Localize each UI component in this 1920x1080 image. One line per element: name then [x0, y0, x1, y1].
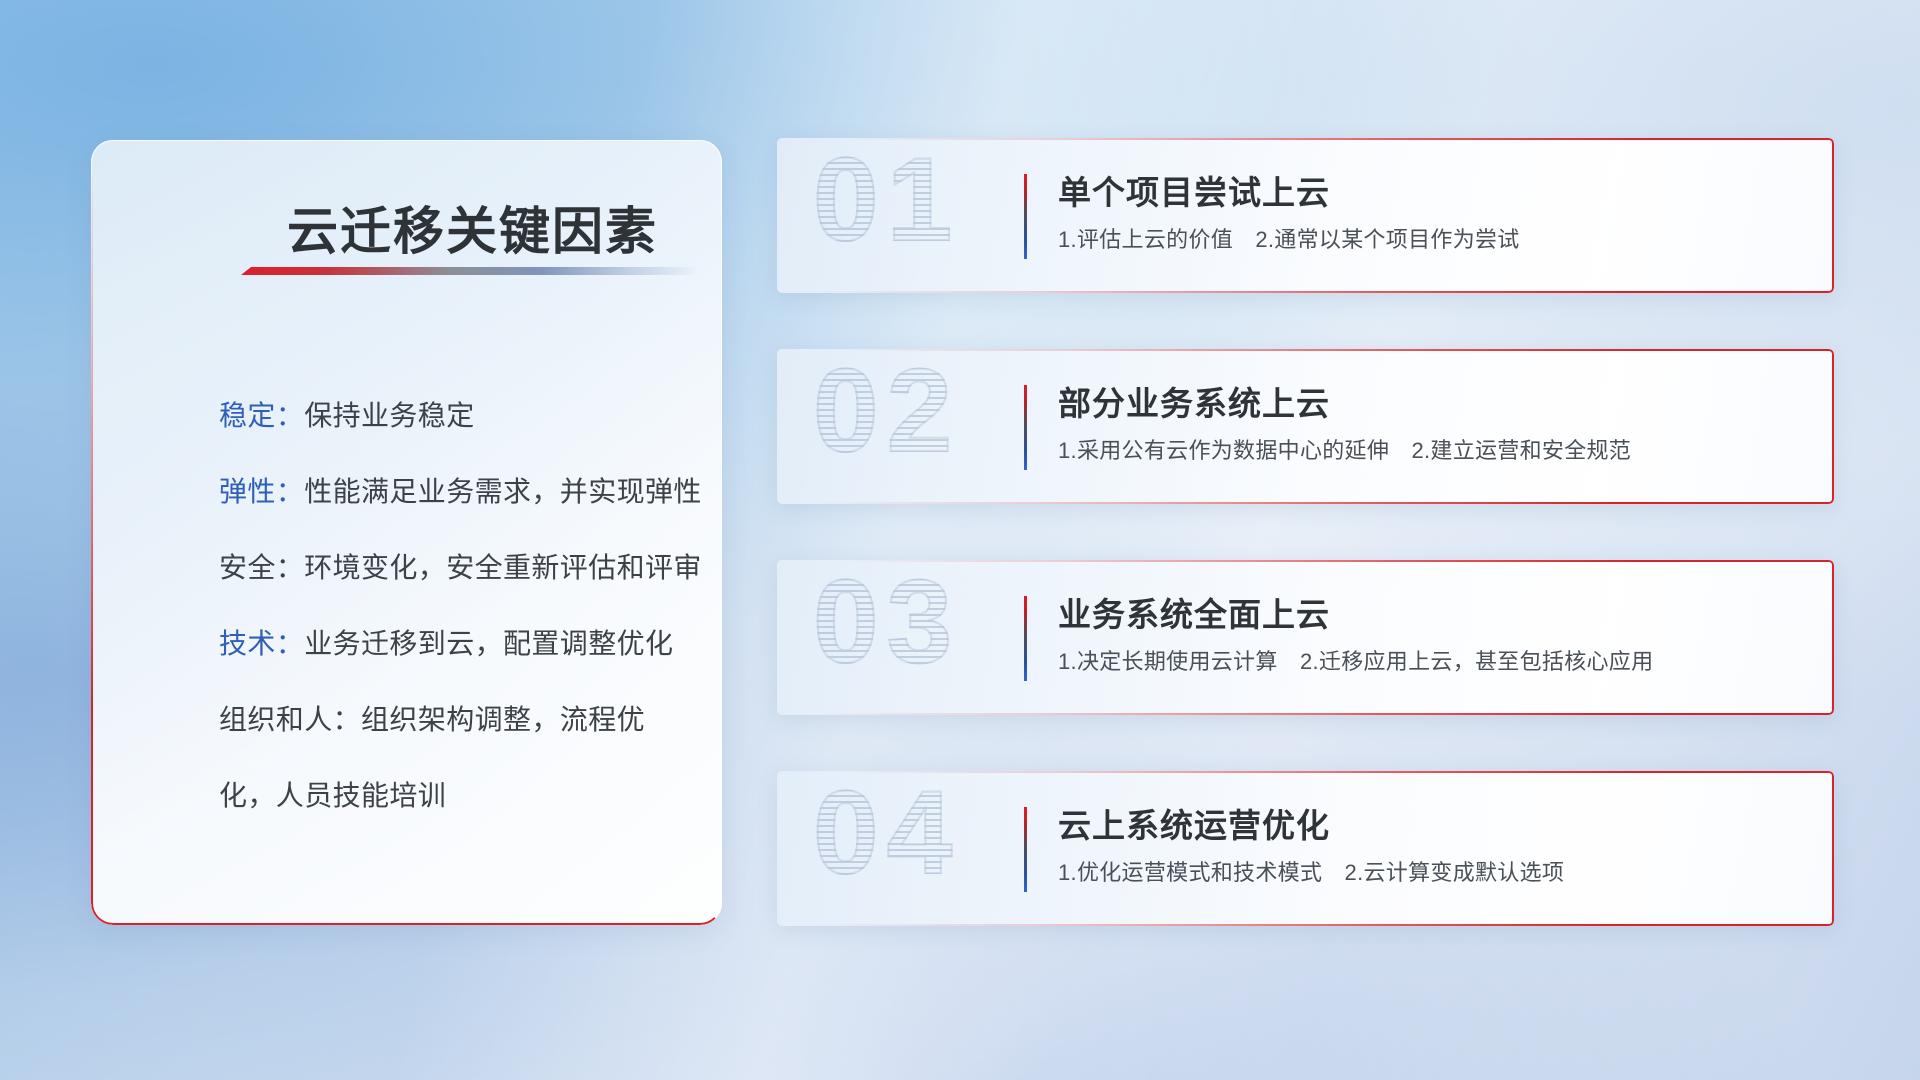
- list-item-value: 性能满足业务需求，并实现弹性: [304, 476, 702, 507]
- stage-number: 03: [813, 560, 960, 690]
- list-item: 安全：环境变化，安全重新评估和评审: [219, 530, 699, 606]
- stage-subtitle: 1.采用公有云作为数据中心的延伸 2.建立运营和安全规范: [1058, 433, 1631, 465]
- list-item-key: 弹性：: [219, 476, 304, 507]
- left-summary-panel: 云迁移关键因素 稳定：保持业务稳定 弹性：性能满足业务需求，并实现弹性 安全：环…: [91, 140, 722, 925]
- stage-number: 04: [813, 771, 960, 901]
- page-title: 云迁移关键因素: [287, 190, 658, 264]
- list-item-key: 技术：: [219, 628, 304, 659]
- stage-title: 部分业务系统上云: [1058, 377, 1330, 425]
- list-item-key: 组织和人：: [219, 704, 361, 735]
- stage-card[interactable]: 03 业务系统全面上云 1.决定长期使用云计算 2.迁移应用上云，甚至包括核心应…: [777, 560, 1834, 715]
- list-item: 稳定：保持业务稳定: [219, 378, 699, 454]
- stage-card[interactable]: 01 单个项目尝试上云 1.评估上云的价值 2.通常以某个项目作为尝试: [777, 138, 1834, 293]
- list-item-value: 环境变化，安全重新评估和评审: [304, 552, 702, 583]
- list-item: 技术：业务迁移到云，配置调整优化: [219, 606, 699, 682]
- list-item-key: 安全：: [219, 552, 304, 583]
- card-divider-bar: [1024, 385, 1027, 470]
- list-item-value: 保持业务稳定: [304, 400, 474, 431]
- slide-canvas: 云迁移关键因素 稳定：保持业务稳定 弹性：性能满足业务需求，并实现弹性 安全：环…: [0, 0, 1920, 1080]
- stage-card[interactable]: 02 部分业务系统上云 1.采用公有云作为数据中心的延伸 2.建立运营和安全规范: [777, 349, 1834, 504]
- stage-number: 01: [813, 138, 960, 268]
- title-underline-rule: [241, 267, 696, 275]
- list-item-key: 稳定：: [219, 400, 304, 431]
- card-divider-bar: [1024, 174, 1027, 259]
- stage-card[interactable]: 04 云上系统运营优化 1.优化运营模式和技术模式 2.云计算变成默认选项: [777, 771, 1834, 926]
- stage-subtitle: 1.优化运营模式和技术模式 2.云计算变成默认选项: [1058, 855, 1564, 887]
- card-divider-bar: [1024, 596, 1027, 681]
- stage-subtitle: 1.决定长期使用云计算 2.迁移应用上云，甚至包括核心应用: [1058, 644, 1653, 676]
- list-item: 弹性：性能满足业务需求，并实现弹性: [219, 454, 699, 530]
- stage-card-list: 01 单个项目尝试上云 1.评估上云的价值 2.通常以某个项目作为尝试 02 部…: [777, 138, 1834, 982]
- stage-subtitle: 1.评估上云的价值 2.通常以某个项目作为尝试: [1058, 222, 1520, 254]
- stage-title: 云上系统运营优化: [1058, 799, 1330, 847]
- stage-number: 02: [813, 349, 960, 479]
- stage-title: 业务系统全面上云: [1058, 588, 1330, 636]
- list-item: 组织和人：组织架构调整，流程优化，人员技能培训: [219, 682, 699, 834]
- key-factor-list: 稳定：保持业务稳定 弹性：性能满足业务需求，并实现弹性 安全：环境变化，安全重新…: [219, 378, 699, 834]
- stage-title: 单个项目尝试上云: [1058, 166, 1330, 214]
- card-divider-bar: [1024, 807, 1027, 892]
- list-item-value: 业务迁移到云，配置调整优化: [304, 628, 673, 659]
